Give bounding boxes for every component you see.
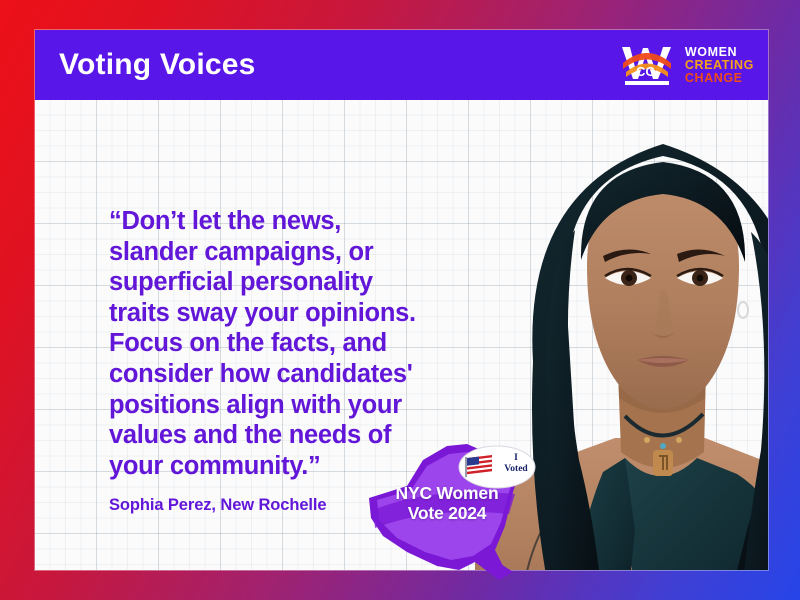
i-voted-text: I Voted xyxy=(498,453,534,475)
page-title: Voting Voices xyxy=(59,50,256,80)
poster-canvas: Voting Voices CC WOMEN xyxy=(0,0,800,600)
i-voted-sticker: I Voted xyxy=(458,445,536,489)
nyc-women-vote-sticker: NYC Women Vote 2024 I Voted xyxy=(363,440,543,590)
logo-line-women: WOMEN xyxy=(685,46,754,59)
sticker-label: NYC Women Vote 2024 xyxy=(373,484,521,524)
quote-attribution: Sophia Perez, New Rochelle xyxy=(109,496,326,515)
